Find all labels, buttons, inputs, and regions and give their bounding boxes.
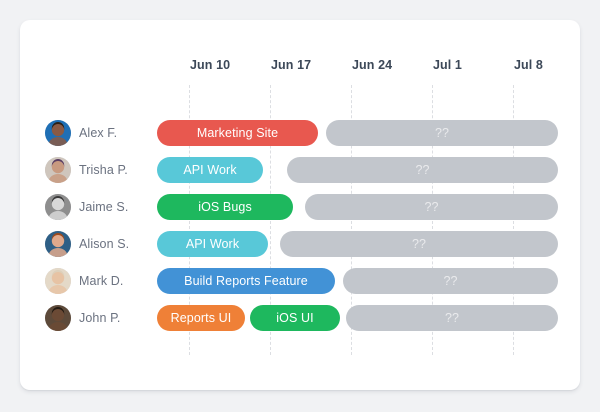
schedule-row: Alex F.Marketing Site?? — [20, 115, 580, 151]
person-cell[interactable]: Mark D. — [45, 263, 123, 299]
task-bar-label: ?? — [416, 200, 446, 214]
task-bar-placeholder[interactable]: ?? — [346, 305, 558, 331]
schedule-row: Trisha P.API Work?? — [20, 152, 580, 188]
schedule-row: Alison S.API Work?? — [20, 226, 580, 262]
task-bar-label: API Work — [175, 163, 244, 177]
avatar — [45, 305, 71, 331]
axis-tick-label: Jul 8 — [514, 58, 543, 72]
task-bar-placeholder[interactable]: ?? — [287, 157, 558, 183]
schedule-rows: Alex F.Marketing Site??Trisha P.API Work… — [20, 115, 580, 337]
task-bar-label: ?? — [435, 274, 465, 288]
task-bar-label: ?? — [404, 237, 434, 251]
task-bar[interactable]: API Work — [157, 157, 263, 183]
schedule-row: John P.Reports UIiOS UI?? — [20, 300, 580, 336]
avatar — [45, 194, 71, 220]
task-bar-label: Reports UI — [163, 311, 240, 325]
task-bar-label: ?? — [437, 311, 467, 325]
task-bar-label: iOS Bugs — [190, 200, 260, 214]
task-bar-label: Build Reports Feature — [176, 274, 316, 288]
schedule-row: Jaime S.iOS Bugs?? — [20, 189, 580, 225]
task-bar[interactable]: iOS Bugs — [157, 194, 293, 220]
person-cell[interactable]: Alex F. — [45, 115, 117, 151]
task-bar-label: API Work — [178, 237, 247, 251]
task-bar-label: ?? — [427, 126, 457, 140]
gantt-timeline: Jun 10Jun 17Jun 24Jul 1Jul 8 Alex F.Mark… — [20, 20, 580, 390]
axis-tick-label: Jun 10 — [190, 58, 230, 72]
date-axis: Jun 10Jun 17Jun 24Jul 1Jul 8 — [20, 58, 580, 76]
person-cell[interactable]: Alison S. — [45, 226, 129, 262]
person-name: Alex F. — [79, 126, 117, 140]
task-bar-placeholder[interactable]: ?? — [343, 268, 558, 294]
person-cell[interactable]: Jaime S. — [45, 189, 128, 225]
task-bar[interactable]: Marketing Site — [157, 120, 318, 146]
axis-tick-label: Jun 24 — [352, 58, 392, 72]
avatar — [45, 120, 71, 146]
person-cell[interactable]: Trisha P. — [45, 152, 128, 188]
person-name: Mark D. — [79, 274, 123, 288]
avatar — [45, 157, 71, 183]
task-bar-label: iOS UI — [268, 311, 321, 325]
task-bar-placeholder[interactable]: ?? — [280, 231, 558, 257]
person-name: Jaime S. — [79, 200, 128, 214]
gantt-card: Jun 10Jun 17Jun 24Jul 1Jul 8 Alex F.Mark… — [20, 20, 580, 390]
axis-tick-label: Jun 17 — [271, 58, 311, 72]
task-bar-label: Marketing Site — [189, 126, 286, 140]
person-name: Alison S. — [79, 237, 129, 251]
schedule-row: Mark D.Build Reports Feature?? — [20, 263, 580, 299]
avatar — [45, 268, 71, 294]
task-bar[interactable]: Reports UI — [157, 305, 245, 331]
task-bar[interactable]: Build Reports Feature — [157, 268, 335, 294]
person-cell[interactable]: John P. — [45, 300, 120, 336]
task-bar-label: ?? — [407, 163, 437, 177]
axis-tick-label: Jul 1 — [433, 58, 462, 72]
task-bar[interactable]: iOS UI — [250, 305, 340, 331]
task-bar-placeholder[interactable]: ?? — [305, 194, 558, 220]
task-bar-placeholder[interactable]: ?? — [326, 120, 558, 146]
person-name: John P. — [79, 311, 120, 325]
person-name: Trisha P. — [79, 163, 128, 177]
avatar — [45, 231, 71, 257]
task-bar[interactable]: API Work — [157, 231, 268, 257]
